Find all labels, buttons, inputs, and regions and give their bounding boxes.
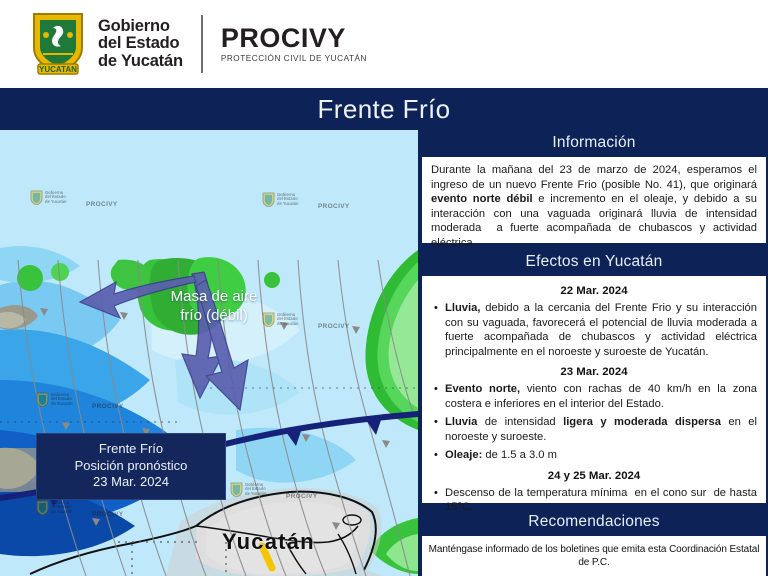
infographic-page: YUCATAN Gobierno del Estado de Yucatán P… — [0, 0, 768, 576]
front-forecast-callout: Frente Frío Posición pronóstico 23 Mar. … — [36, 433, 226, 500]
procivy-tagline: PROTECCIÓN CIVIL DE YUCATÁN — [221, 54, 367, 63]
front-callout-line-1: Frente Frío — [43, 441, 219, 458]
informacion-paragraph: Durante la mañana del 23 de marzo de 202… — [431, 163, 757, 251]
front-callout-line-3: 23 Mar. 2024 — [43, 474, 219, 491]
procivy-wordmark: PROCIVY — [221, 25, 367, 52]
effects-list-24-25mar: Descenso de la temperatura mínima en el … — [431, 486, 757, 515]
map-watermark-procivy: PROCIVY — [92, 403, 124, 410]
effects-date-23mar: 23 Mar. 2024 — [431, 366, 757, 378]
gov-line-2: del Estado — [98, 35, 183, 53]
section-body-informacion: Durante la mañana del 23 de marzo de 202… — [422, 157, 766, 243]
effect-bullet: Oleaje: de 1.5 a 3.0 m — [445, 448, 757, 463]
brand-divider — [201, 15, 203, 73]
cold-air-mass-annotation: Masa de aire frío (débil) — [168, 288, 260, 325]
effect-bullet: Descenso de la temperatura mínima en el … — [445, 486, 757, 515]
section-body-efectos: 22 Mar. 2024 Lluvia, debido a la cercani… — [422, 276, 766, 503]
effects-list-23mar: Evento norte, viento con rachas de 40 km… — [431, 382, 757, 463]
brand-header: YUCATAN Gobierno del Estado de Yucatán P… — [0, 0, 768, 88]
effects-list-22mar: Lluvia, debido a la cercania del Frente … — [431, 301, 757, 359]
region-label-yucatan: Yucatán — [222, 529, 315, 555]
effect-bullet: Lluvia de intensidad ligera y moderada d… — [445, 415, 757, 444]
page-title: Frente Frío — [318, 94, 451, 125]
page-title-band: Frente Frío — [0, 88, 768, 130]
weather-map: Gobierno del Estado de Yucatán PROCIVY G… — [0, 130, 418, 576]
front-callout-line-2: Posición pronóstico — [43, 458, 219, 475]
effect-bullet: Lluvia, debido a la cercania del Frente … — [445, 301, 757, 359]
effects-date-24-25mar: 24 y 25 Mar. 2024 — [431, 470, 757, 482]
map-watermark-procivy: PROCIVY — [286, 493, 318, 500]
effect-bullet: Evento norte, viento con rachas de 40 km… — [445, 382, 757, 411]
gov-line-3: de Yucatán — [98, 53, 183, 71]
map-watermark-procivy: PROCIVY — [318, 203, 350, 210]
map-graphic — [0, 130, 418, 576]
section-title-efectos: Efectos en Yucatán — [422, 249, 766, 276]
yucatan-coat-of-arms-icon: YUCATAN — [30, 12, 86, 76]
section-title-informacion: Información — [422, 130, 766, 157]
section-body-recomendaciones: Manténgase informado de los boletines qu… — [422, 536, 766, 576]
map-watermark-procivy: PROCIVY — [318, 323, 350, 330]
effects-date-22mar: 22 Mar. 2024 — [431, 285, 757, 297]
map-watermark-procivy: PROCIVY — [86, 201, 118, 208]
crest-banner-text: YUCATAN — [39, 65, 77, 74]
government-wordmark: Gobierno del Estado de Yucatán — [98, 18, 183, 71]
information-panel: Información Durante la mañana del 23 de … — [418, 130, 768, 576]
map-watermark-procivy: PROCIVY — [92, 511, 124, 518]
gov-line-1: Gobierno — [98, 18, 183, 36]
